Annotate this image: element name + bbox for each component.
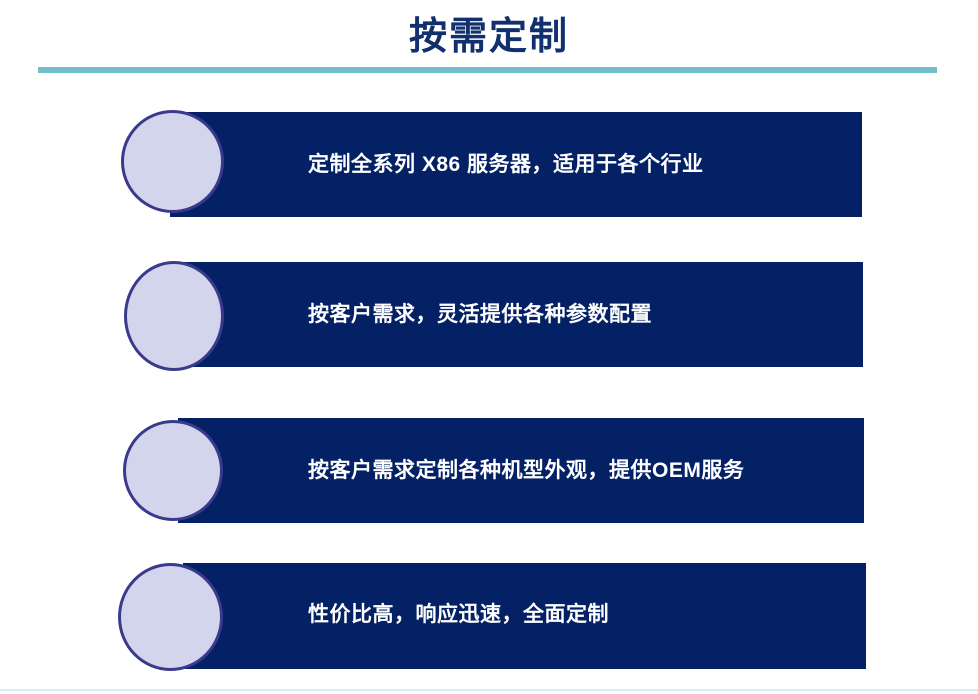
bullet-ellipse-icon (118, 563, 223, 671)
bullet-ellipse-icon (124, 261, 224, 371)
feature-label: 按客户需求，灵活提供各种参数配置 (308, 302, 652, 328)
bullet-ellipse-icon (123, 420, 223, 521)
feature-label: 定制全系列 X86 服务器，适用于各个行业 (308, 152, 704, 178)
bottom-divider (0, 689, 978, 691)
bullet-ellipse-icon (121, 110, 224, 213)
feature-label: 性价比高，响应迅速，全面定制 (308, 602, 609, 628)
feature-list: 定制全系列 X86 服务器，适用于各个行业 按客户需求，灵活提供各种参数配置 按… (0, 0, 978, 694)
feature-label: 按客户需求定制各种机型外观，提供OEM服务 (308, 458, 744, 484)
